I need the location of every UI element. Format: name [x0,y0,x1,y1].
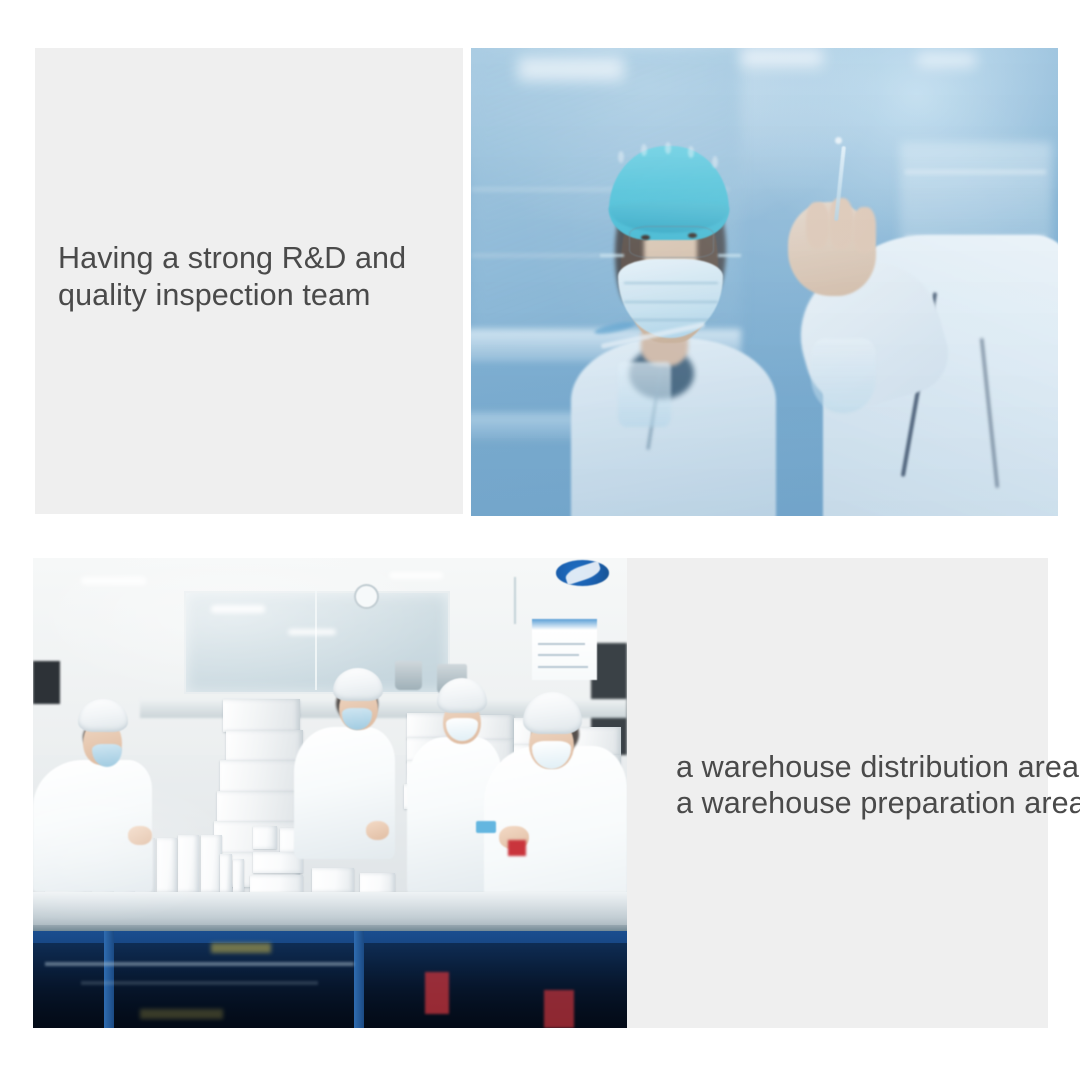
photo-color-grade [471,48,1058,516]
photo-glare [33,558,627,1028]
bottom-caption-panel: a warehouse distribution area a warehous… [627,558,1048,1028]
bottom-section: a warehouse distribution area a warehous… [33,558,1048,1028]
warehouse-packing-photo [33,558,627,1028]
top-caption-panel: Having a strong R&D and quality inspecti… [35,48,463,514]
page-root: Having a strong R&D and quality inspecti… [0,0,1080,1080]
lab-quality-inspection-photo [471,48,1058,516]
bottom-caption-text: a warehouse distribution area a warehous… [676,749,1080,821]
top-caption-text: Having a strong R&D and quality inspecti… [58,240,458,314]
top-section: Having a strong R&D and quality inspecti… [35,48,1058,516]
